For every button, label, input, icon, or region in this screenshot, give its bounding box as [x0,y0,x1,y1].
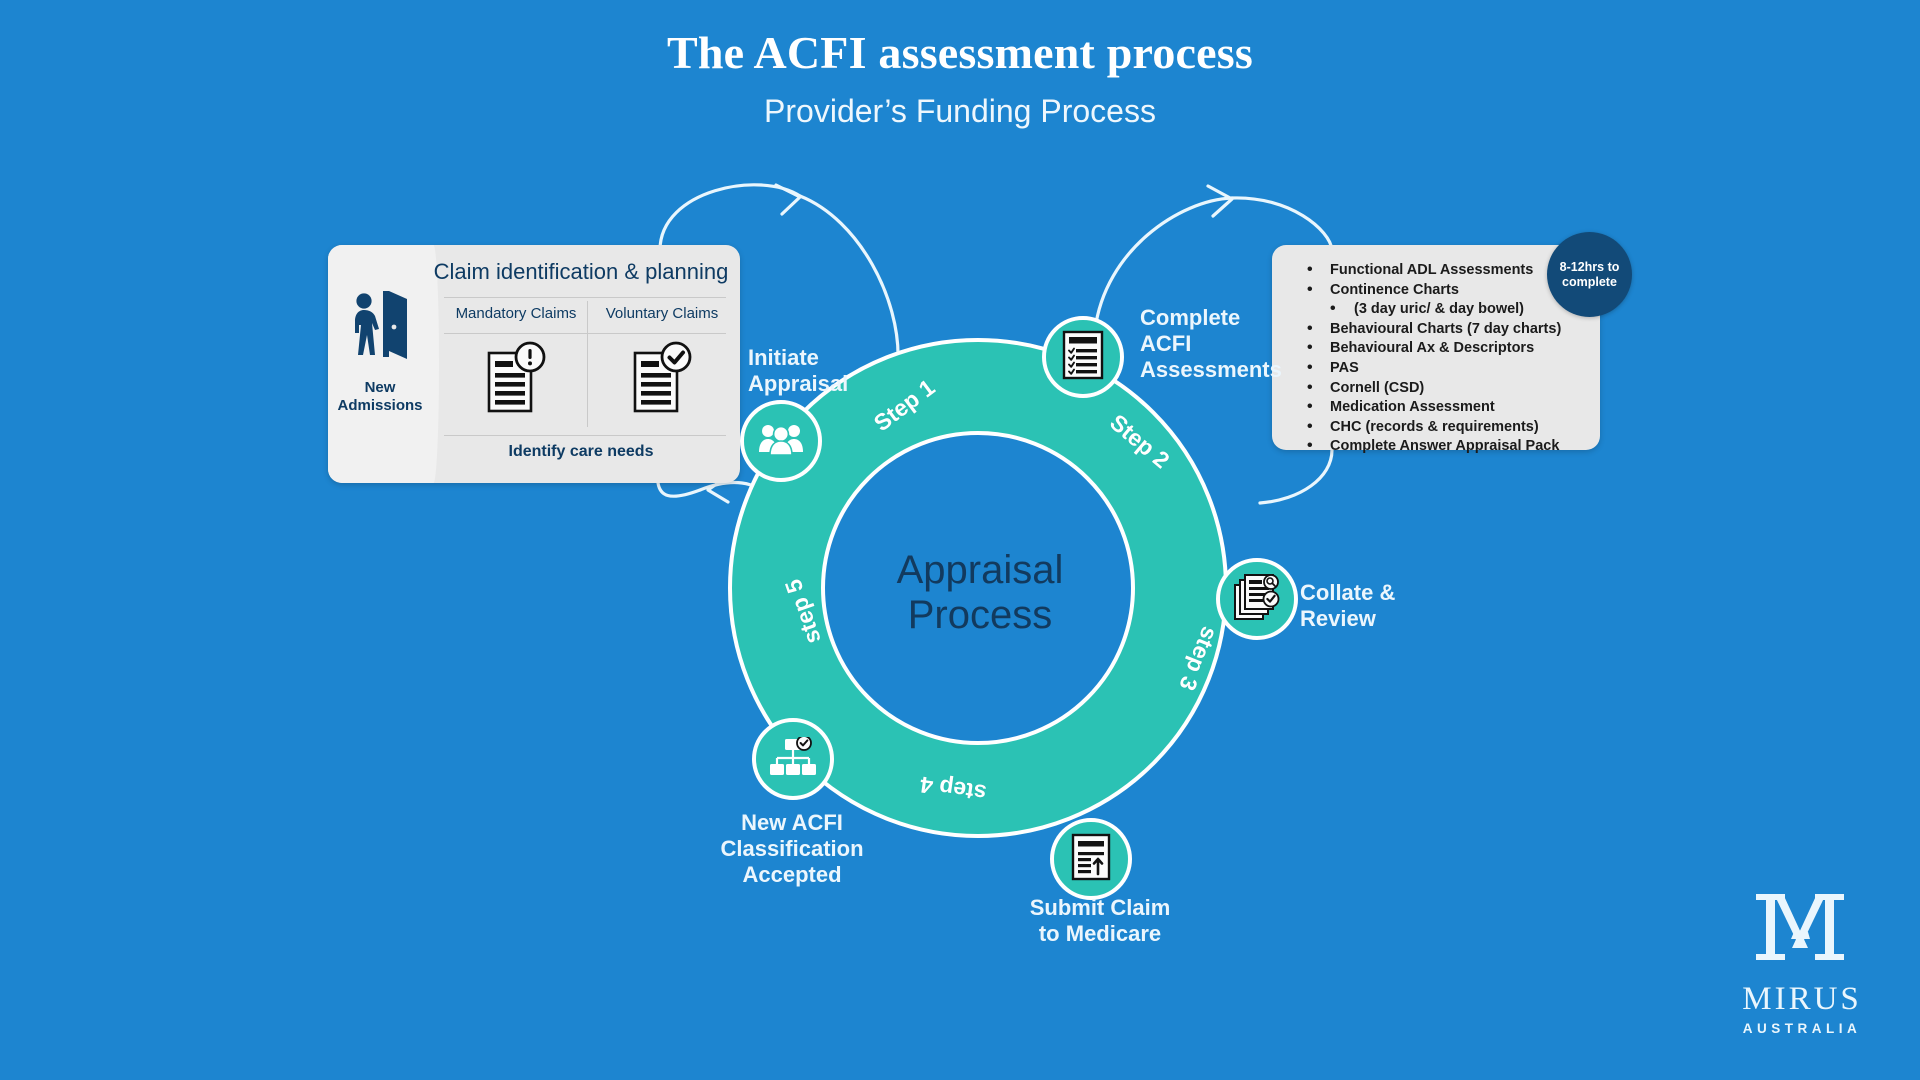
list-item: Medication Assessment [1272,398,1590,418]
new-admissions-column: New Admissions [328,245,432,483]
mandatory-claims-label: Mandatory Claims [446,305,586,322]
list-item: Functional ADL Assessments [1272,261,1590,281]
list-item: Behavioural Charts (7 day charts) [1272,320,1590,340]
list-item: Complete Answer Appraisal Pack [1272,437,1590,457]
person-entering-door-icon [349,285,411,372]
status-badge: 8-12hrs to complete [1547,232,1632,317]
new-admissions-label: New Admissions [328,379,432,415]
list-item: CHC (records & requirements) [1272,418,1590,438]
voluntary-claims-label: Voluntary Claims [592,305,732,322]
document-upload-icon [1070,833,1112,886]
node-label-new-acfi-classification-accepted: New ACFI Classification Accepted [682,810,902,888]
node-label-submit-claim-to-medicare: Submit Claim to Medicare [1005,895,1195,947]
divider [444,297,726,298]
node-label-initiate-appraisal: Initiate Appraisal [748,345,848,397]
document-alert-icon [446,341,586,422]
node-complete-acfi-assessments [1042,316,1124,398]
page-subtitle: Provider’s Funding Process [0,93,1920,130]
divider [587,301,588,427]
list-item: Cornell (CSD) [1272,379,1590,399]
documents-review-icon [1233,573,1281,626]
mirus-australia-logo: MIRUS AUSTRALIA [1727,888,1877,1036]
wheel-center-title: Appraisal Process [840,548,1120,638]
org-chart-check-icon [769,737,817,782]
node-collate-review [1216,558,1298,640]
list-item: PAS [1272,359,1590,379]
divider [444,333,726,334]
page-title: The ACFI assessment process [0,26,1920,79]
claim-card-heading: Claim identification & planning [432,259,730,285]
logo-wordmark: MIRUS [1727,981,1877,1018]
node-new-acfi-classification-accepted [752,718,834,800]
node-initiate-appraisal [740,400,822,482]
list-item: Continence Charts [1272,281,1590,301]
infographic-canvas: The ACFI assessment process Provider’s F… [0,0,1920,1080]
divider [444,435,726,436]
node-label-complete-acfi-assessments: Complete ACFI Assessments [1140,305,1282,383]
claim-identification-card: New Admissions Claim identification & pl… [328,245,740,483]
people-group-icon [758,422,804,461]
claims-column: Claim identification & planning Mandator… [432,245,740,483]
list-item: (3 day uric/ & day bowel) [1272,300,1590,320]
node-submit-claim-to-medicare [1050,818,1132,900]
list-item: Behavioural Ax & Descriptors [1272,339,1590,359]
logo-tagline: AUSTRALIA [1727,1021,1877,1036]
node-label-collate-review: Collate & Review [1300,580,1395,632]
mirus-monogram-icon [1750,959,1854,976]
document-check-icon [592,341,732,422]
identify-care-needs-label: Identify care needs [432,443,730,461]
assessment-bullet-list: Functional ADL AssessmentsContinence Cha… [1272,261,1590,457]
checklist-icon [1062,330,1104,385]
